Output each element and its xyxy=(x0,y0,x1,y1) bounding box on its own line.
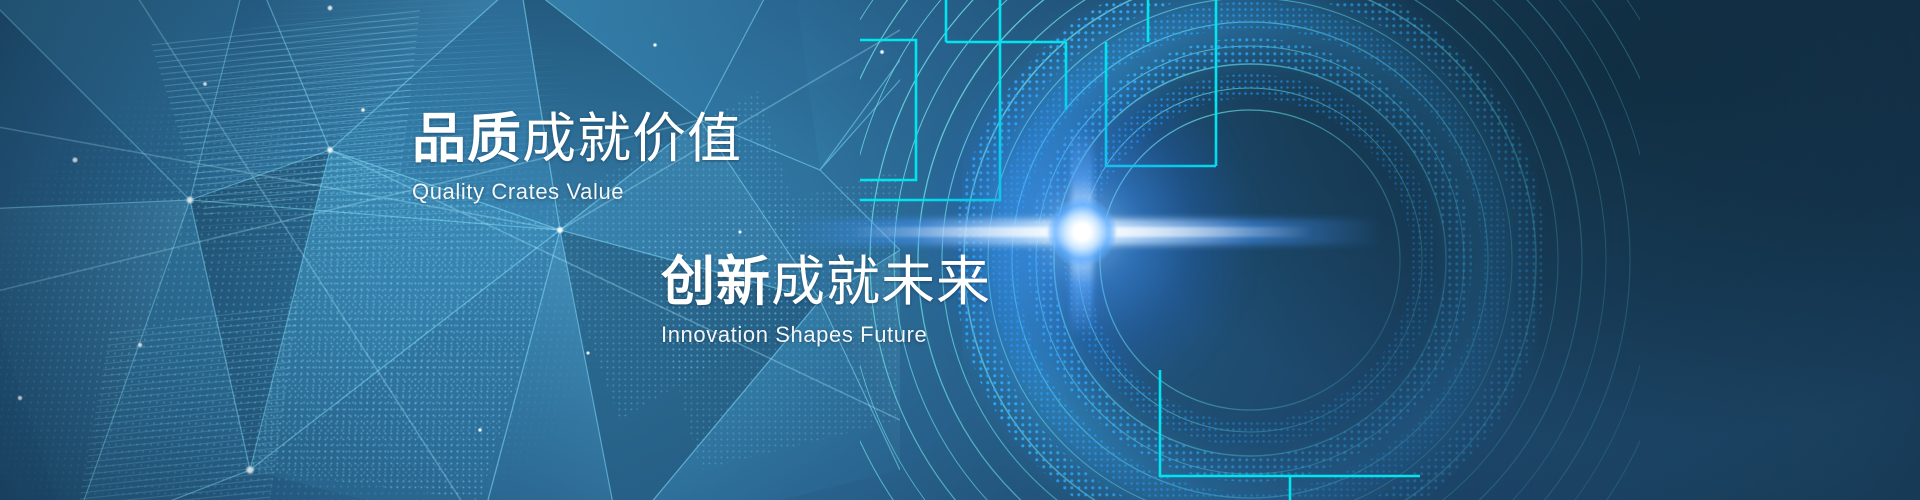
tagline-innovation-cn: 创新成就未来 xyxy=(661,255,991,309)
tagline-quality-cn: 品质成就价值 xyxy=(412,112,742,166)
tagline-quality-en: Quality Crates Value xyxy=(412,179,742,205)
tagline-innovation-cn-lead: 创新 xyxy=(661,250,771,313)
tagline-innovation-cn-tail: 成就未来 xyxy=(771,250,991,313)
tagline-quality: 品质成就价值 Quality Crates Value xyxy=(412,112,742,205)
tagline-quality-cn-lead: 品质 xyxy=(412,107,522,170)
tagline-quality-cn-tail: 成就价值 xyxy=(522,107,742,170)
tagline-innovation: 创新成就未来 Innovation Shapes Future xyxy=(661,255,991,348)
hero-banner: 品质成就价值 Quality Crates Value 创新成就未来 Innov… xyxy=(0,0,1920,500)
tagline-innovation-en: Innovation Shapes Future xyxy=(661,322,991,348)
